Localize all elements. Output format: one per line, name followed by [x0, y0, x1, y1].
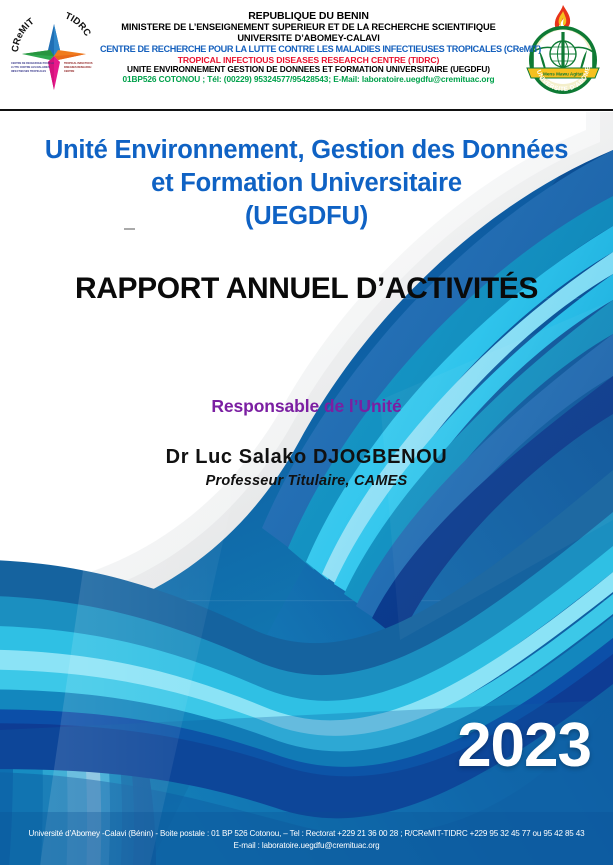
footer-address-line: Université d’Abomey -Calavi (Bénin) - Bo…	[0, 828, 613, 841]
header-line-cremit: CENTRE DE RECHERCHE POUR LA LUTTE CONTRE…	[100, 44, 517, 55]
svg-text:INFECTIEUSES TROPICALES: INFECTIEUSES TROPICALES	[11, 70, 46, 73]
responsable-rank: Professeur Titulaire, CAMES	[0, 473, 613, 489]
unit-title-block: Unité Environnement, Gestion des Données…	[0, 134, 613, 233]
header-line-ministry: MINISTERE DE L’ENSEIGNEMENT SUPERIEUR ET…	[100, 22, 517, 33]
header-line-university: UNIVERSITE D’ABOMEY-CALAVI	[100, 33, 517, 44]
stray-dash-mark	[124, 228, 135, 230]
header-line-contact: 01BP526 COTONOU ; Tél: (00229) 95324577/…	[100, 75, 517, 85]
svg-text:CReMIT: CReMIT	[10, 16, 37, 53]
unit-title-line-3: (UEGDFU)	[0, 200, 613, 233]
page-title: RAPPORT ANNUEL D’ACTIVITÉS	[0, 272, 613, 306]
svg-text:CENTRE DE RECHERCHE POUR LA: CENTRE DE RECHERCHE POUR LA	[11, 62, 54, 65]
report-cover-page: CReMIT TIDRC CENTRE DE RECHERCHE POUR LA…	[0, 0, 613, 865]
svg-text:TIDRC: TIDRC	[63, 11, 93, 39]
cremit-tidrc-logo: CReMIT TIDRC CENTRE DE RECHERCHE POUR LA…	[8, 6, 100, 98]
unit-title-line-2: et Formation Universitaire	[0, 167, 613, 200]
header-institution-lines: REPUBLIQUE DU BENIN MINISTERE DE L’ENSEI…	[100, 10, 517, 85]
report-year: 2023	[457, 715, 591, 777]
page-header: CReMIT TIDRC CENTRE DE RECHERCHE POUR LA…	[0, 0, 613, 112]
footer-email-line: E-mail : laboratoire.uegdfu@cremituac.or…	[0, 840, 613, 853]
responsable-name: Dr Luc Salako DJOGBENOU	[0, 446, 613, 469]
svg-text:LUTTE CONTRE LES MALADIES: LUTTE CONTRE LES MALADIES	[11, 66, 50, 69]
page-footer: Université d’Abomey -Calavi (Bénin) - Bo…	[0, 828, 613, 853]
header-line-republic: REPUBLIQUE DU BENIN	[100, 10, 517, 22]
svg-text:DISEASES RESEARCH: DISEASES RESEARCH	[64, 66, 92, 69]
svg-text:TROPICAL INFECTIOUS: TROPICAL INFECTIOUS	[64, 62, 93, 65]
responsable-label: Responsable de l’Unité	[0, 396, 613, 417]
header-divider	[0, 109, 613, 111]
svg-text:Mens Mawu Agitat: Mens Mawu Agitat	[543, 71, 583, 76]
unit-title-line-1: Unité Environnement, Gestion des Données	[0, 134, 613, 167]
svg-text:CENTRE: CENTRE	[64, 70, 75, 73]
